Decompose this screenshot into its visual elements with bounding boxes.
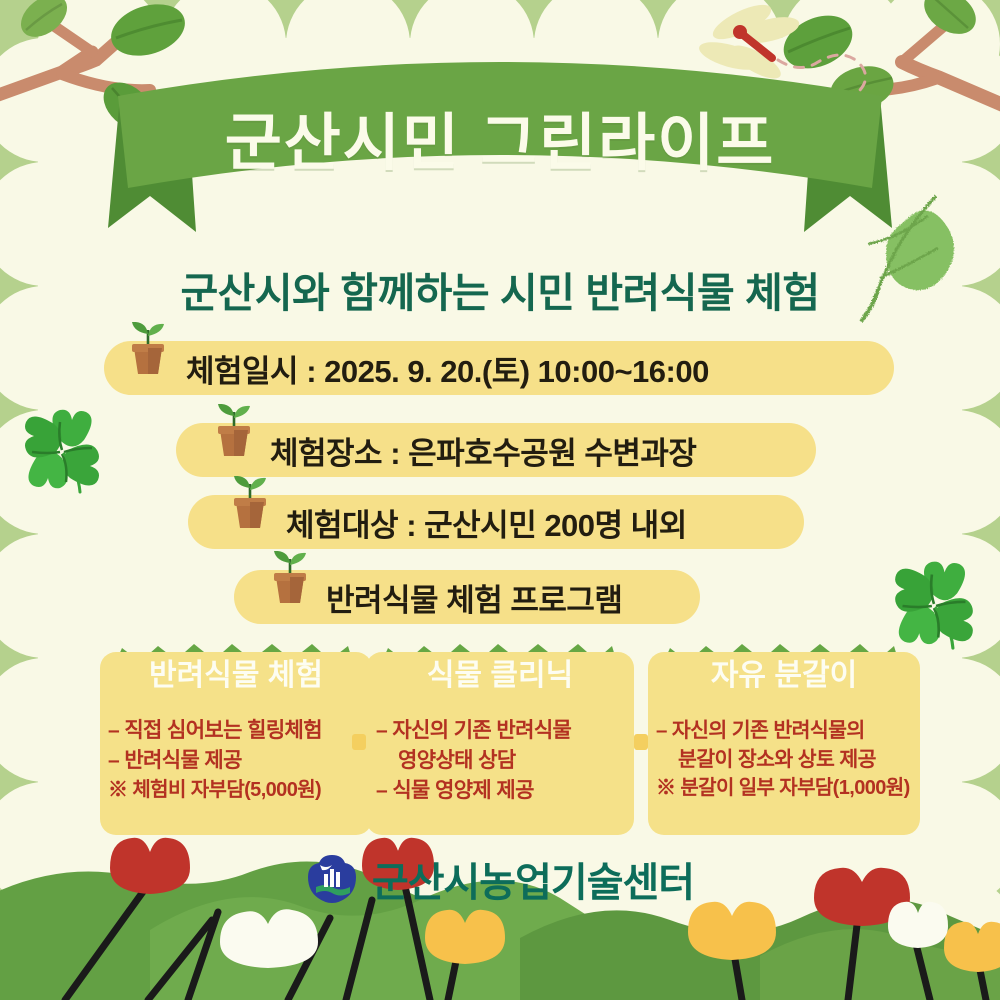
- info-row-date: 체험일시 : 2025. 9. 20.(토) 10:00~16:00: [104, 341, 894, 395]
- program-line: – 직접 심어보는 힐링체험: [108, 716, 364, 746]
- info-row-audience: 체험대상 : 군산시민 200명 내외: [188, 495, 804, 549]
- program-card-1: 반려식물 체험 – 직접 심어보는 힐링체험 – 반려식물 제공 ※ 체험비 자…: [100, 652, 372, 835]
- program-card-title: 반려식물 체험: [112, 643, 360, 701]
- potted-plant-icon: [212, 404, 256, 462]
- page-subtitle: 군산시와 함께하는 시민 반려식물 체험: [0, 259, 1000, 319]
- potted-plant-icon: [126, 322, 170, 380]
- program-line: 분갈이 장소와 상토 제공: [656, 745, 912, 774]
- program-card-body: – 자신의 기존 반려식물 영양상태 상담 – 식물 영양제 제공: [366, 716, 634, 805]
- program-line: – 식물 영양제 제공: [376, 776, 626, 806]
- program-card-2: 식물 클리닉 – 자신의 기존 반려식물 영양상태 상담 – 식물 영양제 제공: [366, 652, 634, 835]
- program-card-body: – 직접 심어보는 힐링체험 – 반려식물 제공 ※ 체험비 자부담(5,000…: [100, 716, 372, 804]
- card-connector: [634, 734, 648, 750]
- info-row-text: 반려식물 체험 프로그램: [326, 575, 622, 620]
- program-line: – 자신의 기존 반려식물: [376, 716, 626, 746]
- program-card-body: – 자신의 기존 반려식물의 분갈이 장소와 상토 제공 ※ 분갈이 일부 자부…: [648, 716, 920, 803]
- program-card-3: 자유 분갈이 – 자신의 기존 반려식물의 분갈이 장소와 상토 제공 ※ 분갈…: [648, 652, 920, 835]
- page-title: 군산시민 그린라이프: [0, 92, 1000, 182]
- footer: 군산시농업기술센터: [0, 850, 1000, 908]
- info-row-text: 체험대상 : 군산시민 200명 내외: [286, 500, 687, 545]
- program-card-title: 자유 분갈이: [660, 643, 908, 701]
- info-row-text: 체험일시 : 2025. 9. 20.(토) 10:00~16:00: [186, 346, 709, 391]
- poster-canvas: 군산시민 그린라이프 군산시와 함께하는 시민 반려식물 체험 체험일시 : 2…: [0, 0, 1000, 1000]
- potted-plant-icon: [268, 551, 312, 609]
- program-line: – 반려식물 제공: [108, 746, 364, 776]
- info-row-place: 체험장소 : 은파호수공원 수변과장: [176, 423, 816, 477]
- program-line: – 자신의 기존 반려식물의: [656, 716, 912, 745]
- info-row-program-label: 반려식물 체험 프로그램: [234, 570, 700, 624]
- potted-plant-icon: [228, 476, 272, 534]
- gunsan-city-emblem-icon: [306, 853, 358, 905]
- program-line: ※ 분갈이 일부 자부담(1,000원): [656, 774, 912, 802]
- program-card-title: 식물 클리닉: [376, 643, 624, 701]
- footer-organization: 군산시농업기술센터: [372, 850, 694, 908]
- info-row-text: 체험장소 : 은파호수공원 수변과장: [270, 428, 696, 473]
- card-connector: [352, 734, 366, 750]
- program-line: 영양상태 상담: [376, 746, 626, 776]
- program-line: ※ 체험비 자부담(5,000원): [108, 776, 364, 804]
